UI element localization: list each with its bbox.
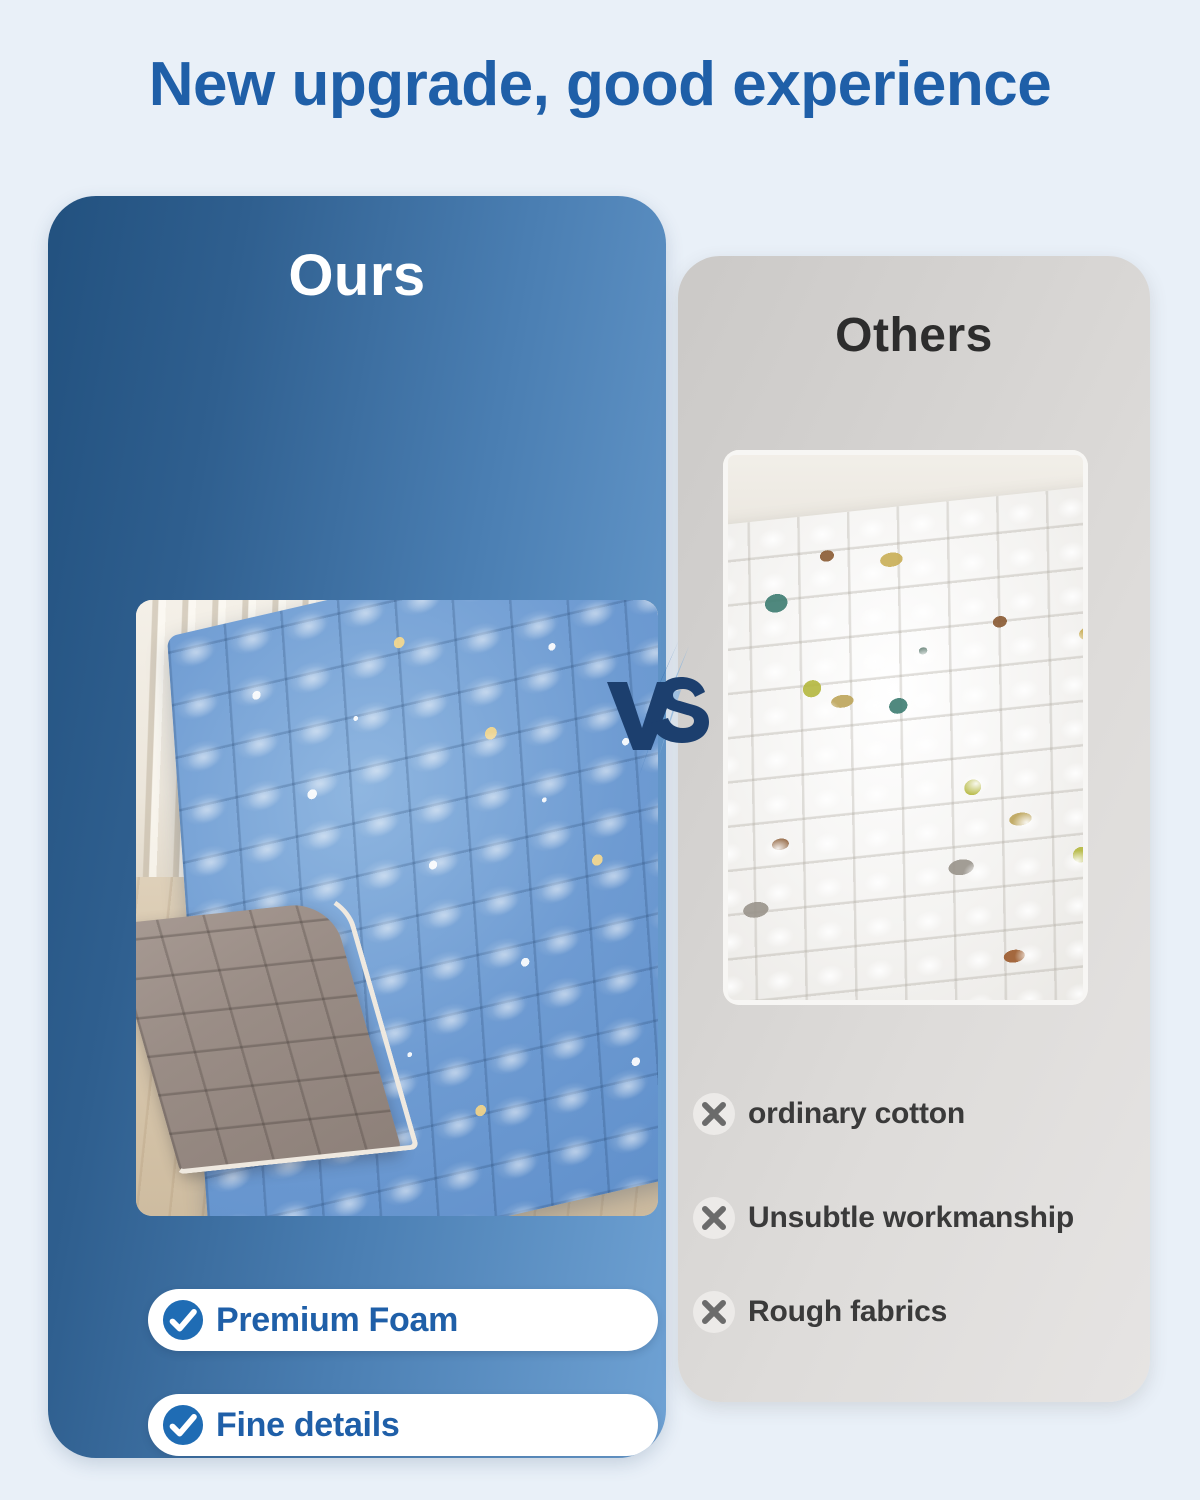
others-feature-2-label: Unsubtle workmanship (748, 1201, 1074, 1235)
cross-circle-icon (692, 1092, 736, 1136)
others-feature-3: Rough fabrics (692, 1290, 947, 1334)
others-panel-title: Others (678, 308, 1150, 363)
others-feature-2: Unsubtle workmanship (692, 1196, 1074, 1240)
others-product-photo (723, 450, 1088, 1005)
cross-circle-icon (692, 1196, 736, 1240)
ours-feature-1-label: Premium Foam (216, 1301, 458, 1340)
cross-circle-icon (692, 1290, 736, 1334)
ours-panel-title: Ours (48, 242, 666, 309)
ours-feature-2-label: Fine details (216, 1406, 399, 1445)
mat-edge (723, 450, 1088, 1005)
ours-feature-2: Fine details (148, 1394, 658, 1456)
ours-panel: Ours Premium Foam Fine details (48, 196, 666, 1458)
vs-badge (601, 636, 721, 786)
others-feature-3-label: Rough fabrics (748, 1295, 947, 1329)
page-title: New upgrade, good experience (0, 52, 1200, 117)
ours-product-photo (136, 600, 658, 1216)
others-feature-1-label: ordinary cotton (748, 1097, 965, 1131)
check-circle-icon (162, 1404, 204, 1446)
ours-feature-1: Premium Foam (148, 1289, 658, 1351)
others-feature-1: ordinary cotton (692, 1092, 965, 1136)
check-circle-icon (162, 1299, 204, 1341)
